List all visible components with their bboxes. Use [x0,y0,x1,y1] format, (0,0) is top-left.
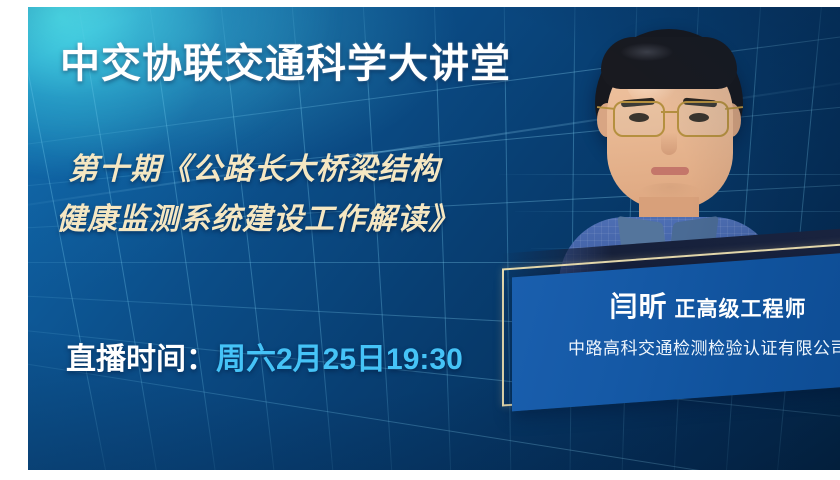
speaker-organization: 中路高科交通检测检验认证有限公司 [512,334,840,359]
page-title: 中交协联交通科学大讲堂 [60,31,511,89]
poster-artwork: 中交协联交通科学大讲堂 第十期《公路长大桥梁结构 健康监测系统建设工作解读》 直… [28,7,840,470]
airtime-label: 直播时间： [66,343,216,376]
speaker-name-row: 闫昕正高级工程师 [512,285,840,325]
speaker-name: 闫昕 [609,291,667,322]
airtime-row: 直播时间：周六2月25日19:30 [66,334,463,378]
poster-root: 中交协联交通科学大讲堂 第十期《公路长大桥梁结构 健康监测系统建设工作解读》 直… [0,0,840,480]
speaker-title: 正高级工程师 [675,298,807,321]
card-content: 闫昕正高级工程师 中路高科交通检测检验认证有限公司 [512,249,840,412]
episode-subtitle-line2: 健康监测系统建设工作解读》 [56,195,459,245]
episode-subtitle: 第十期《公路长大桥梁结构 健康监测系统建设工作解读》 [68,145,459,245]
speaker-card: 闫昕正高级工程师 中路高科交通检测检验认证有限公司 [478,247,840,447]
airtime-value: 周六2月25日19:30 [216,343,463,376]
episode-subtitle-line1: 第十期《公路长大桥梁结构 [68,153,440,186]
